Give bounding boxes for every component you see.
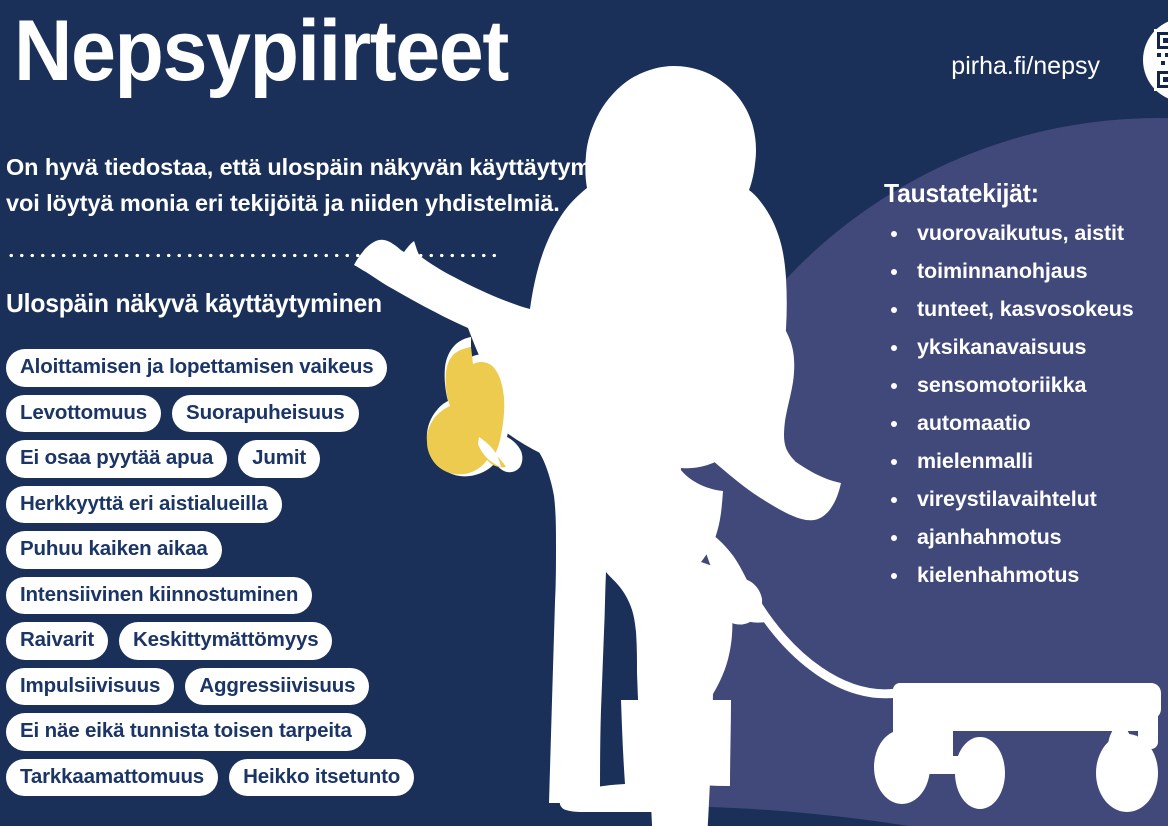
tag-item[interactable]: Ei osaa pyytää apua: [6, 440, 227, 478]
tag-item[interactable]: Impulsiivisuus: [6, 668, 174, 706]
tag-item[interactable]: Jumit: [238, 440, 320, 478]
tag-item[interactable]: Aloittamisen ja lopettamisen vaikeus: [6, 349, 387, 387]
tag-item[interactable]: Intensiivinen kiinnostuminen: [6, 577, 312, 615]
factor-item: ajanhahmotus: [884, 527, 1168, 549]
dotted-divider: [6, 253, 501, 258]
poster-root: Nepsypiirteet pirha.fi/nepsy On hyvä tie…: [0, 0, 1168, 826]
tag-row: Impulsiivisuus Aggressiivisuus: [6, 668, 646, 706]
page-title: Nepsypiirteet: [14, 6, 508, 96]
tag-row: Aloittamisen ja lopettamisen vaikeus: [6, 349, 646, 387]
factor-item: yksikanavaisuus: [884, 337, 1168, 359]
tag-item[interactable]: Ei näe eikä tunnista toisen tarpeita: [6, 713, 366, 751]
factor-item: sensomotoriikka: [884, 375, 1168, 397]
tag-row: Ei osaa pyytää apua Jumit: [6, 440, 646, 478]
factor-item: mielenmalli: [884, 451, 1168, 473]
factors-list: vuorovaikutus, aistit toiminnanohjaus tu…: [884, 223, 1168, 587]
factor-item: vuorovaikutus, aistit: [884, 223, 1168, 245]
tag-row: Herkkyyttä eri aistialueilla: [6, 486, 646, 524]
factor-item: toiminnanohjaus: [884, 261, 1168, 283]
tag-item[interactable]: Aggressiivisuus: [185, 668, 369, 706]
tag-row: Raivarit Keskittymättömyys: [6, 622, 646, 660]
tag-item[interactable]: Herkkyyttä eri aistialueilla: [6, 486, 282, 524]
tag-item[interactable]: Suorapuheisuus: [172, 395, 359, 433]
tag-row: Levottomuus Suorapuheisuus: [6, 395, 646, 433]
website-url[interactable]: pirha.fi/nepsy: [951, 52, 1100, 81]
tag-item[interactable]: Heikko itsetunto: [229, 759, 414, 797]
section-heading-behaviour: Ulospäin näkyvä käyttäytyminen: [6, 288, 382, 319]
tag-row: Tarkkaamattomuus Heikko itsetunto: [6, 759, 646, 797]
factors-title: Taustatekijät:: [884, 178, 1168, 209]
factors-panel: Taustatekijät: vuorovaikutus, aistit toi…: [884, 178, 1168, 603]
intro-paragraph: On hyvä tiedostaa, että ulospäin näkyvän…: [6, 150, 776, 221]
tag-row: Intensiivinen kiinnostuminen: [6, 577, 646, 615]
factor-item: automaatio: [884, 413, 1168, 435]
tag-item[interactable]: Puhuu kaiken aikaa: [6, 531, 222, 569]
factor-item: kielenhahmotus: [884, 565, 1168, 587]
factor-item: vireystilavaihtelut: [884, 489, 1168, 511]
tag-row: Puhuu kaiken aikaa: [6, 531, 646, 569]
tag-item[interactable]: Tarkkaamattomuus: [6, 759, 218, 797]
tag-item[interactable]: Levottomuus: [6, 395, 161, 433]
factor-item: tunteet, kasvosokeus: [884, 299, 1168, 321]
qr-code-icon[interactable]: [1143, 18, 1168, 102]
behaviour-tag-list: Aloittamisen ja lopettamisen vaikeus Lev…: [6, 349, 646, 796]
tag-item[interactable]: Keskittymättömyys: [119, 622, 332, 660]
tag-row: Ei näe eikä tunnista toisen tarpeita: [6, 713, 646, 751]
tag-item[interactable]: Raivarit: [6, 622, 108, 660]
